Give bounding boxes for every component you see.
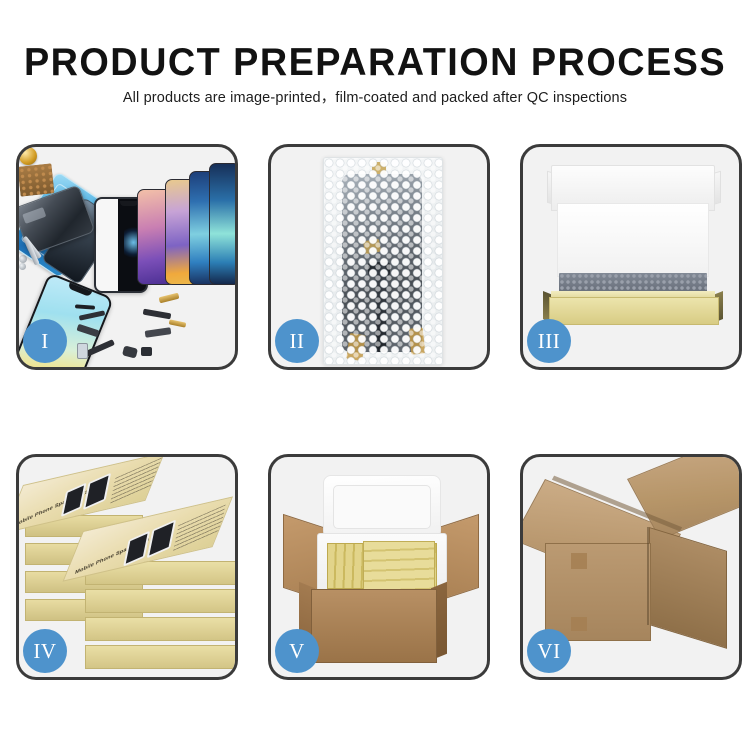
connector-icon — [368, 262, 390, 276]
process-step-panel-3: III — [520, 144, 742, 370]
gold-connector-icon — [169, 319, 187, 327]
step-badge-3: III — [527, 319, 571, 363]
screw-icon — [19, 263, 26, 270]
tape-icon — [372, 162, 386, 174]
tape-icon — [363, 239, 381, 255]
box-art-thumbnail-icon — [147, 519, 176, 558]
tape-icon — [346, 333, 365, 361]
process-step-grid: I II — [0, 140, 750, 695]
gold-connector-icon — [159, 293, 180, 304]
bubble-wrap-bag-icon — [323, 157, 443, 365]
box-art-thumbnail-icon — [123, 531, 150, 567]
camera-module-icon — [141, 347, 152, 356]
page-subtitle: All products are image-printed，film-coat… — [0, 89, 750, 107]
step-badge-1: I — [23, 319, 67, 363]
carton-tape-icon — [571, 617, 587, 631]
phone-teal-icon — [209, 163, 238, 285]
carton-front-icon — [311, 589, 437, 663]
step-badge-5: V — [275, 629, 319, 673]
tape-icon — [409, 327, 426, 354]
process-step-panel-2: II — [268, 144, 490, 370]
step-badge-6: VI — [527, 629, 571, 673]
process-step-panel-1: I — [16, 144, 238, 370]
step-badge-2: II — [275, 319, 319, 363]
box-art-thumbnail-icon — [83, 473, 111, 511]
speaker-module-icon — [122, 345, 138, 358]
page-root: PRODUCT PREPARATION PROCESS All products… — [0, 0, 750, 750]
box-art-thumbnail-icon — [61, 483, 87, 518]
wrapped-part-icon — [342, 174, 422, 352]
ribbon-cable-icon — [376, 266, 386, 352]
screw-grid-icon — [18, 163, 55, 196]
sim-tray-icon — [77, 343, 88, 359]
carton-tape-icon — [571, 553, 587, 569]
page-title: PRODUCT PREPARATION PROCESS — [11, 42, 739, 84]
carton-edge-icon — [647, 527, 649, 625]
process-step-panel-6: VI — [520, 454, 742, 680]
gold-coil-icon — [19, 147, 37, 165]
retail-box-edge-icon — [85, 617, 237, 641]
carton-side-icon — [649, 527, 727, 649]
page-header: PRODUCT PREPARATION PROCESS All products… — [0, 0, 750, 120]
process-step-panel-5: V — [268, 454, 490, 680]
styrofoam-lid-icon — [323, 475, 441, 539]
box-tray-front-icon — [549, 297, 719, 325]
step-badge-4: IV — [23, 629, 67, 673]
packed-retail-boxes-icon — [363, 541, 435, 591]
process-step-panel-4: Mobile Phone Spare Parts Mobile Phone Sp… — [16, 454, 238, 680]
flex-cable-icon — [143, 309, 172, 320]
box-spec-lines-icon — [110, 457, 163, 504]
flex-cable-icon — [145, 327, 172, 338]
box-spec-lines-icon — [173, 504, 226, 551]
retail-box-edge-icon — [85, 589, 237, 613]
retail-box-edge-icon — [85, 645, 237, 669]
box-back-panel-icon — [557, 203, 709, 277]
carton-front-icon — [545, 543, 651, 641]
